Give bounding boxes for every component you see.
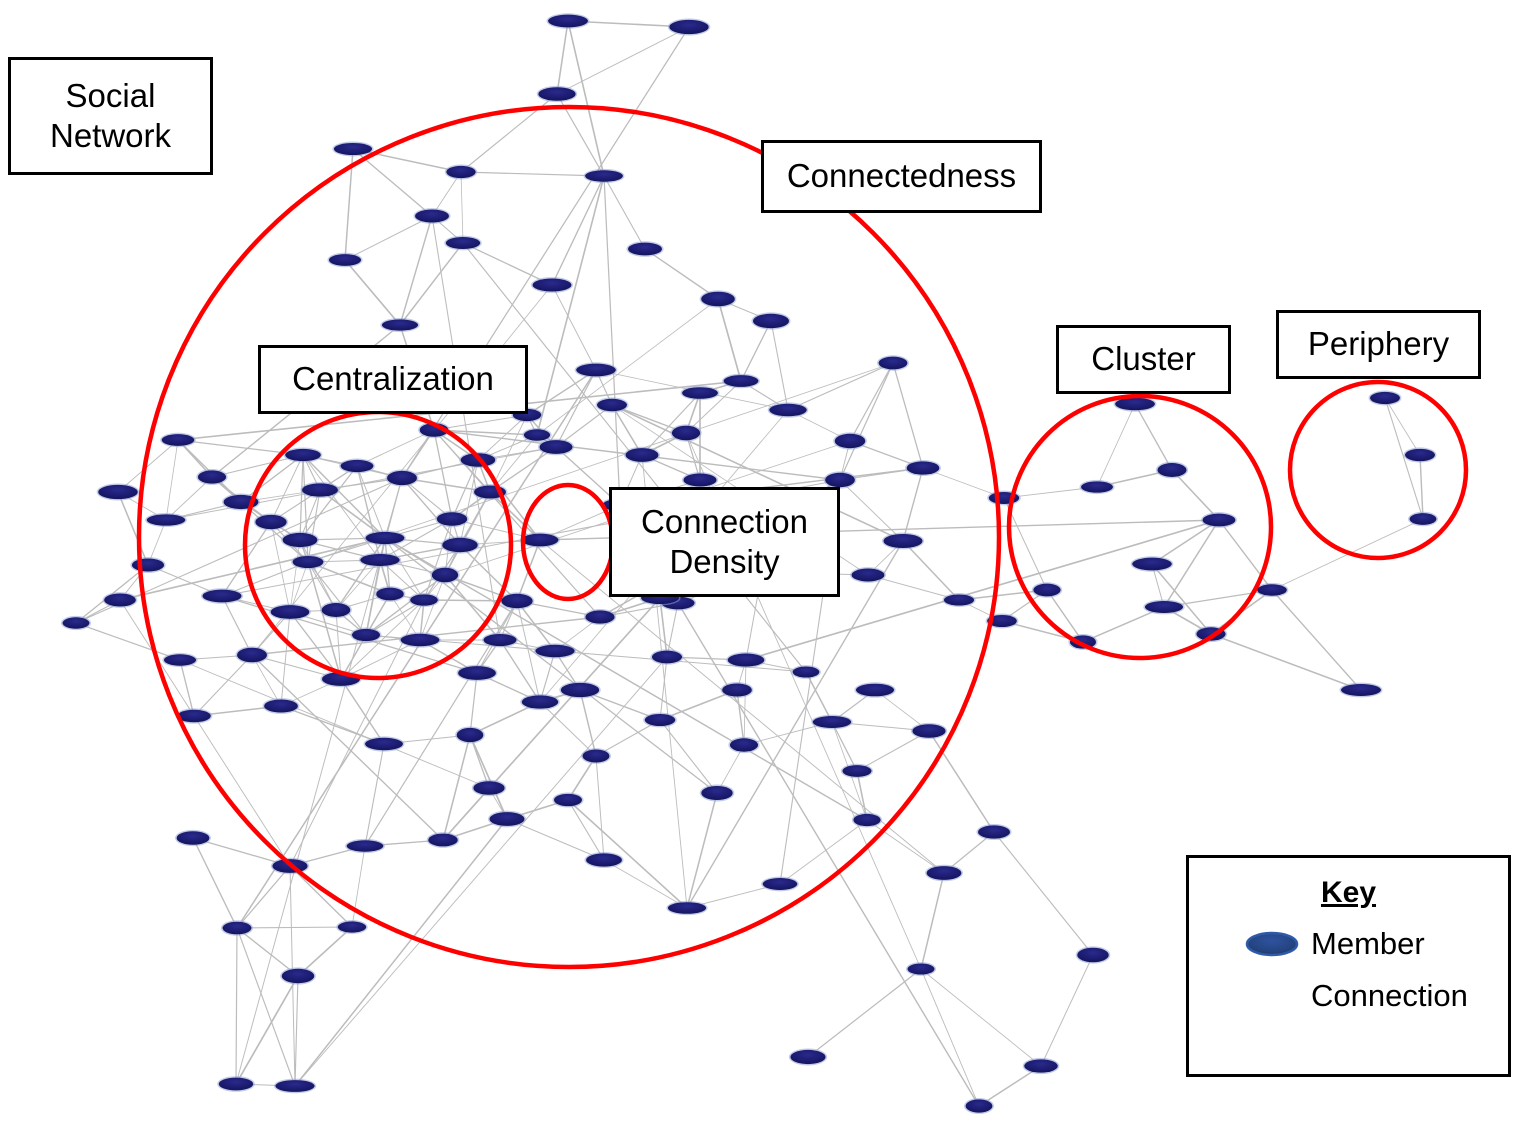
member-node — [1368, 391, 1401, 406]
social-network-diagram: Social Network Connectedness Centralizat… — [0, 0, 1535, 1137]
edge — [1097, 404, 1135, 487]
edge — [596, 756, 604, 860]
member-node — [581, 748, 611, 764]
member-node — [103, 592, 138, 608]
edge — [1152, 564, 1211, 634]
edge — [308, 490, 320, 562]
edge — [1211, 634, 1361, 690]
member-node — [332, 142, 373, 157]
edge — [718, 299, 741, 381]
edge — [470, 673, 477, 735]
edge — [903, 541, 959, 600]
member-node — [575, 362, 618, 377]
edge — [490, 492, 540, 540]
callout-periphery: Periphery — [1276, 310, 1481, 379]
member-node — [482, 633, 518, 648]
key-label-connection: Connection — [1311, 978, 1468, 1014]
member-node — [882, 533, 924, 550]
edge — [921, 873, 944, 969]
member-node — [235, 646, 268, 663]
member-node — [666, 901, 707, 915]
member-node — [345, 839, 385, 853]
member-node — [300, 482, 339, 498]
edge — [237, 927, 352, 928]
member-node — [385, 469, 418, 486]
edge — [1272, 590, 1361, 690]
key-title: Key — [1189, 876, 1508, 910]
edge — [470, 735, 507, 819]
edge — [660, 657, 667, 720]
member-node — [670, 424, 701, 441]
member-node — [559, 681, 601, 698]
edge — [281, 612, 290, 706]
edge — [461, 172, 463, 243]
edge — [295, 976, 298, 1086]
edge — [118, 492, 148, 565]
member-node — [854, 682, 895, 697]
edge — [645, 249, 718, 299]
edge — [737, 690, 744, 745]
member-node — [850, 567, 886, 583]
member-node — [643, 713, 677, 728]
member-node — [1156, 462, 1188, 479]
member-node — [1131, 556, 1174, 571]
member-node — [269, 604, 311, 620]
member-node — [336, 920, 368, 934]
member-node — [196, 469, 227, 485]
member-node — [280, 967, 316, 984]
edge — [552, 285, 596, 370]
edge — [300, 455, 303, 540]
edge — [687, 793, 717, 908]
member-node — [1256, 583, 1289, 597]
member-node — [359, 553, 402, 568]
member-node — [906, 962, 936, 976]
member-node — [721, 682, 754, 698]
member-node — [728, 737, 759, 753]
member-node — [1339, 683, 1382, 698]
member-node — [61, 616, 91, 630]
edge — [400, 243, 463, 325]
member-node — [761, 877, 799, 892]
member-node — [700, 785, 735, 802]
member-node — [942, 593, 975, 607]
edge — [345, 260, 400, 325]
edge — [850, 363, 893, 441]
edge — [788, 363, 893, 410]
edge — [780, 820, 867, 884]
member-node — [455, 726, 485, 743]
member-node — [925, 865, 963, 882]
edge — [556, 370, 596, 447]
edge — [166, 440, 178, 520]
member-node — [175, 830, 211, 846]
member-node — [584, 852, 623, 868]
edge — [893, 363, 923, 468]
member-node — [789, 1049, 827, 1066]
member-node — [201, 588, 243, 604]
member-node — [488, 811, 526, 828]
edge — [193, 838, 237, 928]
member-node — [441, 536, 480, 553]
member-node — [263, 698, 300, 714]
member-node — [364, 530, 406, 545]
member-node — [700, 290, 737, 307]
edge — [741, 321, 771, 381]
member-node — [427, 832, 460, 848]
edge — [1041, 955, 1093, 1066]
member-node — [976, 824, 1011, 840]
member-node — [375, 586, 406, 602]
member-node — [145, 513, 187, 527]
member-node — [877, 355, 909, 371]
edge — [994, 832, 1093, 955]
callout-connectedness: Connectedness — [761, 140, 1042, 213]
member-node — [1032, 582, 1062, 598]
edge — [400, 216, 432, 325]
member-node — [537, 86, 578, 102]
cluster-circle — [1009, 396, 1271, 658]
member-node — [380, 318, 419, 332]
member-node — [444, 236, 482, 251]
edge — [295, 819, 507, 1086]
member-node — [583, 169, 624, 183]
member-node — [546, 13, 589, 28]
member-node — [833, 432, 867, 449]
connectedness-circle — [139, 107, 999, 967]
member-node — [399, 632, 441, 647]
member-node — [456, 665, 497, 682]
edge — [840, 480, 903, 541]
member-node-icon — [1241, 927, 1303, 961]
edge — [840, 363, 893, 480]
member-node — [584, 609, 616, 625]
edge — [832, 722, 857, 771]
edge — [604, 860, 687, 908]
member-node — [435, 511, 469, 527]
edge — [194, 655, 252, 716]
edge — [345, 216, 432, 260]
member-node — [500, 592, 535, 609]
member-node — [1079, 480, 1114, 494]
member-node — [911, 723, 947, 739]
callout-centralization: Centralization — [258, 345, 528, 414]
edge — [300, 466, 357, 540]
member-node — [445, 164, 478, 179]
member-node — [680, 386, 719, 400]
member-node — [668, 18, 711, 35]
member-node — [552, 792, 583, 807]
callout-cluster: Cluster — [1056, 325, 1231, 394]
member-node — [624, 447, 660, 464]
member-node — [284, 447, 323, 462]
edge — [237, 866, 290, 928]
edge — [921, 969, 1041, 1066]
edge — [604, 176, 620, 505]
member-node — [363, 736, 404, 751]
key-row-member: Member — [1189, 926, 1508, 962]
key-row-connection: Connection — [1189, 978, 1508, 1014]
edge — [76, 623, 180, 660]
edge — [568, 800, 604, 860]
member-node — [534, 643, 576, 658]
member-node — [327, 253, 362, 268]
member-node — [409, 593, 440, 607]
edge — [1385, 398, 1420, 455]
member-node — [811, 715, 853, 730]
member-node — [841, 764, 873, 779]
edge — [744, 660, 746, 745]
member-node — [722, 374, 760, 389]
member-node — [650, 649, 683, 665]
member-node — [1143, 600, 1184, 615]
member-node — [538, 439, 574, 456]
edge — [580, 690, 596, 756]
member-node — [1408, 512, 1438, 527]
edge — [771, 321, 788, 410]
member-node — [130, 557, 165, 573]
connection-line-icon — [1241, 979, 1303, 1013]
callout-social-network: Social Network — [8, 57, 213, 175]
edge — [867, 820, 944, 873]
member-node — [274, 1079, 316, 1094]
member-node — [1201, 512, 1237, 528]
member-node — [217, 1076, 255, 1092]
edge — [568, 800, 687, 908]
edge — [461, 172, 604, 176]
edge — [1219, 520, 1272, 590]
member-node — [1076, 946, 1111, 963]
edge — [180, 660, 194, 716]
member-node — [682, 472, 718, 488]
member-node — [221, 920, 253, 935]
edge — [295, 657, 667, 1086]
member-node — [595, 397, 628, 412]
edge — [222, 596, 252, 655]
member-node — [852, 812, 882, 827]
member-node — [964, 1098, 994, 1114]
key-label-member: Member — [1311, 926, 1425, 962]
edge — [808, 969, 921, 1057]
edge — [537, 299, 718, 435]
key-legend-box: Key Member Connection — [1186, 855, 1511, 1077]
edge — [678, 603, 979, 1106]
member-node — [905, 460, 941, 476]
edge — [236, 928, 237, 1084]
member-node — [162, 653, 197, 667]
member-node — [791, 665, 821, 679]
member-node — [768, 402, 809, 417]
member-node — [1403, 447, 1436, 462]
member-node — [751, 312, 790, 329]
member-node — [472, 780, 507, 796]
edge — [290, 866, 352, 927]
callout-connection-density: Connection Density — [609, 487, 840, 597]
member-node — [413, 208, 450, 224]
member-node — [254, 513, 289, 530]
edge — [903, 468, 923, 541]
edge — [1135, 404, 1172, 470]
member-node — [520, 532, 560, 547]
member-node — [531, 277, 573, 293]
edge — [604, 176, 645, 249]
member-node — [350, 627, 381, 642]
member-node — [626, 241, 663, 257]
member-node — [160, 433, 196, 447]
member-node — [281, 532, 319, 549]
member-node — [320, 602, 352, 619]
edge — [929, 731, 994, 832]
member-node — [726, 652, 766, 668]
member-node — [339, 459, 375, 474]
edge — [434, 430, 452, 519]
periphery-circle — [1290, 382, 1466, 558]
edge — [1172, 470, 1219, 520]
edge — [921, 969, 979, 1106]
member-node — [430, 566, 460, 583]
member-node — [97, 483, 140, 500]
member-node — [1023, 1058, 1060, 1074]
member-node — [291, 555, 325, 570]
member-node — [520, 694, 560, 710]
edge — [557, 21, 568, 94]
